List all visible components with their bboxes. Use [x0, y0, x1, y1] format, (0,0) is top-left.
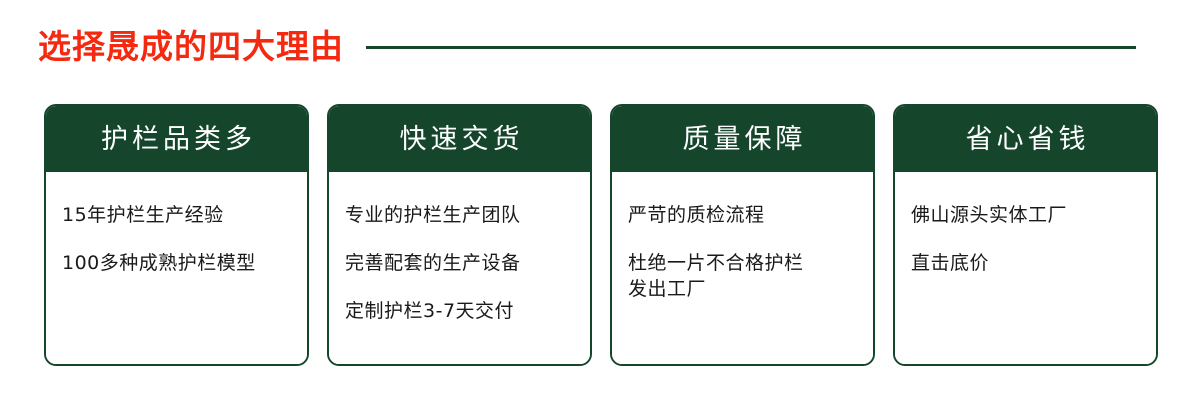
feature-card-1-body: 15年护栏生产经验 100多种成熟护栏模型 [46, 172, 307, 364]
feature-card-1-line-2: 100多种成熟护栏模型 [62, 250, 307, 276]
feature-card-4-body: 佛山源头实体工厂 直击底价 [895, 172, 1156, 364]
feature-card-2-line-2: 完善配套的生产设备 [345, 250, 590, 276]
feature-card-4: 省心省钱 佛山源头实体工厂 直击底价 [893, 104, 1158, 366]
feature-card-2: 快速交货 专业的护栏生产团队 完善配套的生产设备 定制护栏3-7天交付 [327, 104, 592, 366]
feature-card-3-header: 质量保障 [612, 106, 873, 172]
feature-card-4-line-2: 直击底价 [911, 250, 1156, 276]
feature-card-4-header: 省心省钱 [895, 106, 1156, 172]
feature-card-list: 护栏品类多 15年护栏生产经验 100多种成熟护栏模型 快速交货 专业的护栏生产… [44, 104, 1158, 366]
feature-card-2-line-1: 专业的护栏生产团队 [345, 202, 590, 228]
feature-card-3-heading: 质量保障 [679, 126, 807, 153]
feature-card-2-line-3: 定制护栏3-7天交付 [345, 298, 590, 324]
feature-card-3-body: 严苛的质检流程 杜绝一片不合格护栏 发出工厂 [612, 172, 873, 364]
feature-card-3-line-2: 杜绝一片不合格护栏 发出工厂 [628, 250, 873, 302]
promo-banner: 选择晟成的四大理由 护栏品类多 15年护栏生产经验 100多种成熟护栏模型 快速… [0, 0, 1200, 400]
feature-card-4-line-1: 佛山源头实体工厂 [911, 202, 1156, 228]
page-title: 选择晟成的四大理由 [38, 30, 344, 63]
feature-card-3-line-1: 严苛的质检流程 [628, 202, 873, 228]
feature-card-1: 护栏品类多 15年护栏生产经验 100多种成熟护栏模型 [44, 104, 309, 366]
title-divider-rule [366, 46, 1136, 49]
feature-card-2-heading: 快速交货 [396, 126, 524, 153]
feature-card-1-heading: 护栏品类多 [97, 126, 256, 153]
feature-card-3: 质量保障 严苛的质检流程 杜绝一片不合格护栏 发出工厂 [610, 104, 875, 366]
feature-card-1-line-1: 15年护栏生产经验 [62, 202, 307, 228]
feature-card-2-header: 快速交货 [329, 106, 590, 172]
feature-card-2-body: 专业的护栏生产团队 完善配套的生产设备 定制护栏3-7天交付 [329, 172, 590, 364]
section-title-row: 选择晟成的四大理由 [38, 22, 1158, 70]
feature-card-1-header: 护栏品类多 [46, 106, 307, 172]
feature-card-4-heading: 省心省钱 [962, 126, 1090, 153]
